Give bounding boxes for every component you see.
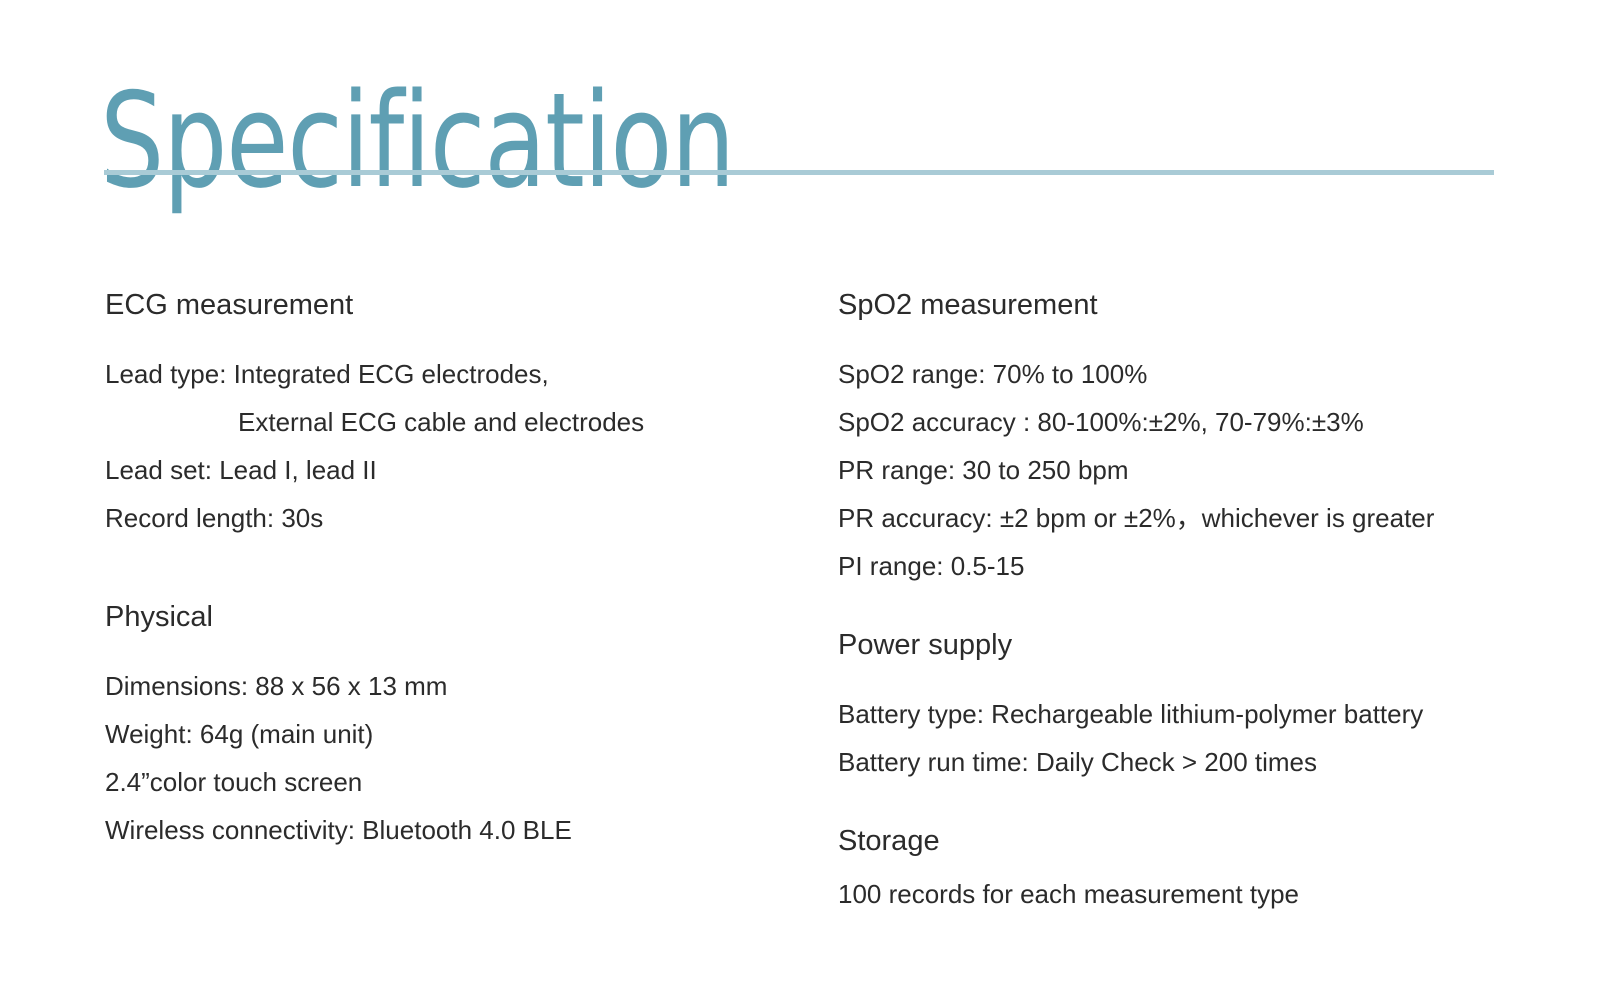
section-spo2-measurement: SpO2 measurement SpO2 range: 70% to 100%… (838, 288, 1578, 590)
spec-line: Lead set: Lead I, lead II (105, 446, 805, 494)
title-divider-rule (104, 170, 1494, 175)
section-physical: Physical Dimensions: 88 x 56 x 13 mm Wei… (105, 600, 805, 854)
spec-line: SpO2 accuracy : 80-100%:±2%, 70-79%:±3% (838, 398, 1578, 446)
spec-line: PI range: 0.5-15 (838, 542, 1578, 590)
spec-line: Lead type: Integrated ECG electrodes, (105, 350, 805, 398)
left-column: ECG measurement Lead type: Integrated EC… (105, 288, 805, 854)
spec-list-spo2-measurement: SpO2 range: 70% to 100% SpO2 accuracy : … (838, 350, 1578, 590)
spacer (838, 590, 1578, 628)
right-column: SpO2 measurement SpO2 range: 70% to 100%… (838, 288, 1578, 918)
spec-line: SpO2 range: 70% to 100% (838, 350, 1578, 398)
spacer (105, 542, 805, 600)
spacer (105, 634, 805, 662)
section-heading-power-supply: Power supply (838, 628, 1578, 662)
page-title: Specification (100, 66, 734, 217)
section-storage: Storage 100 records for each measurement… (838, 824, 1578, 918)
spacer (838, 322, 1578, 350)
spacer (838, 786, 1578, 824)
spec-line: External ECG cable and electrodes (105, 398, 805, 446)
spec-list-physical: Dimensions: 88 x 56 x 13 mm Weight: 64g … (105, 662, 805, 854)
spec-line: Weight: 64g (main unit) (105, 710, 805, 758)
spec-list-power-supply: Battery type: Rechargeable lithium-polym… (838, 690, 1578, 786)
section-heading-spo2-measurement: SpO2 measurement (838, 288, 1578, 322)
specification-slide: Specification ECG measurement Lead type:… (0, 0, 1600, 990)
spec-line: PR range: 30 to 250 bpm (838, 446, 1578, 494)
spec-line: 100 records for each measurement type (838, 870, 1578, 918)
section-heading-physical: Physical (105, 600, 805, 634)
spec-list-ecg-measurement: Lead type: Integrated ECG electrodes, Ex… (105, 350, 805, 542)
spacer (838, 662, 1578, 690)
spacer (838, 858, 1578, 870)
spec-line: 2.4”color touch screen (105, 758, 805, 806)
section-heading-storage: Storage (838, 824, 1578, 858)
spacer (105, 322, 805, 350)
spec-line: Record length: 30s (105, 494, 805, 542)
section-power-supply: Power supply Battery type: Rechargeable … (838, 628, 1578, 786)
spec-line: Dimensions: 88 x 56 x 13 mm (105, 662, 805, 710)
spec-list-storage: 100 records for each measurement type (838, 870, 1578, 918)
section-heading-ecg-measurement: ECG measurement (105, 288, 805, 322)
spec-line: Wireless connectivity: Bluetooth 4.0 BLE (105, 806, 805, 854)
spec-line: Battery type: Rechargeable lithium-polym… (838, 690, 1578, 738)
spec-line: PR accuracy: ±2 bpm or ±2%，whichever is … (838, 494, 1578, 542)
spec-line: Battery run time: Daily Check > 200 time… (838, 738, 1578, 786)
section-ecg-measurement: ECG measurement Lead type: Integrated EC… (105, 288, 805, 542)
